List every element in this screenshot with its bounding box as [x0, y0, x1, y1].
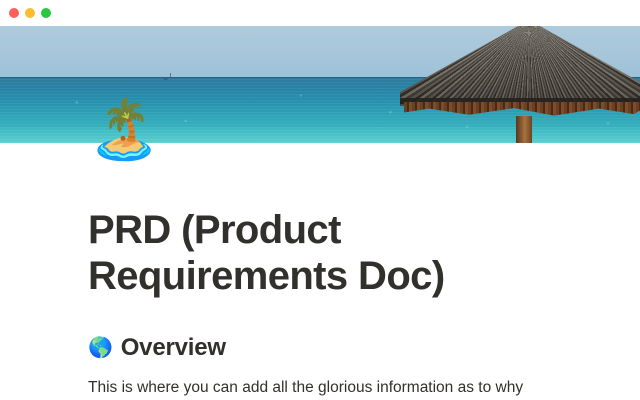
window-titlebar — [0, 0, 640, 26]
boat-mast-icon — [170, 73, 171, 77]
palapa-umbrella — [400, 26, 640, 143]
maximize-window-button[interactable] — [41, 8, 51, 18]
document-body: PRD (Product Requirements Doc) 🌎 Overvie… — [0, 143, 640, 400]
desert-island-emoji[interactable]: 🏝️ — [88, 96, 156, 164]
section-body-overview[interactable]: This is where you can add all the glorio… — [88, 363, 552, 400]
section-heading-overview[interactable]: 🌎 Overview — [88, 299, 552, 363]
close-window-button[interactable] — [9, 8, 19, 18]
globe-americas-icon: 🌎 — [88, 333, 113, 363]
app-window: 🏝️ PRD (Product Requirements Doc) 🌎 Over… — [0, 0, 640, 400]
palapa-pole — [516, 116, 532, 143]
palapa-roof — [400, 26, 640, 106]
section-heading-label: Overview — [121, 333, 226, 363]
window-traffic-lights — [9, 8, 51, 18]
document-content: PRD (Product Requirements Doc) 🌎 Overvie… — [0, 143, 640, 400]
minimize-window-button[interactable] — [25, 8, 35, 18]
page-title[interactable]: PRD (Product Requirements Doc) — [88, 143, 552, 299]
